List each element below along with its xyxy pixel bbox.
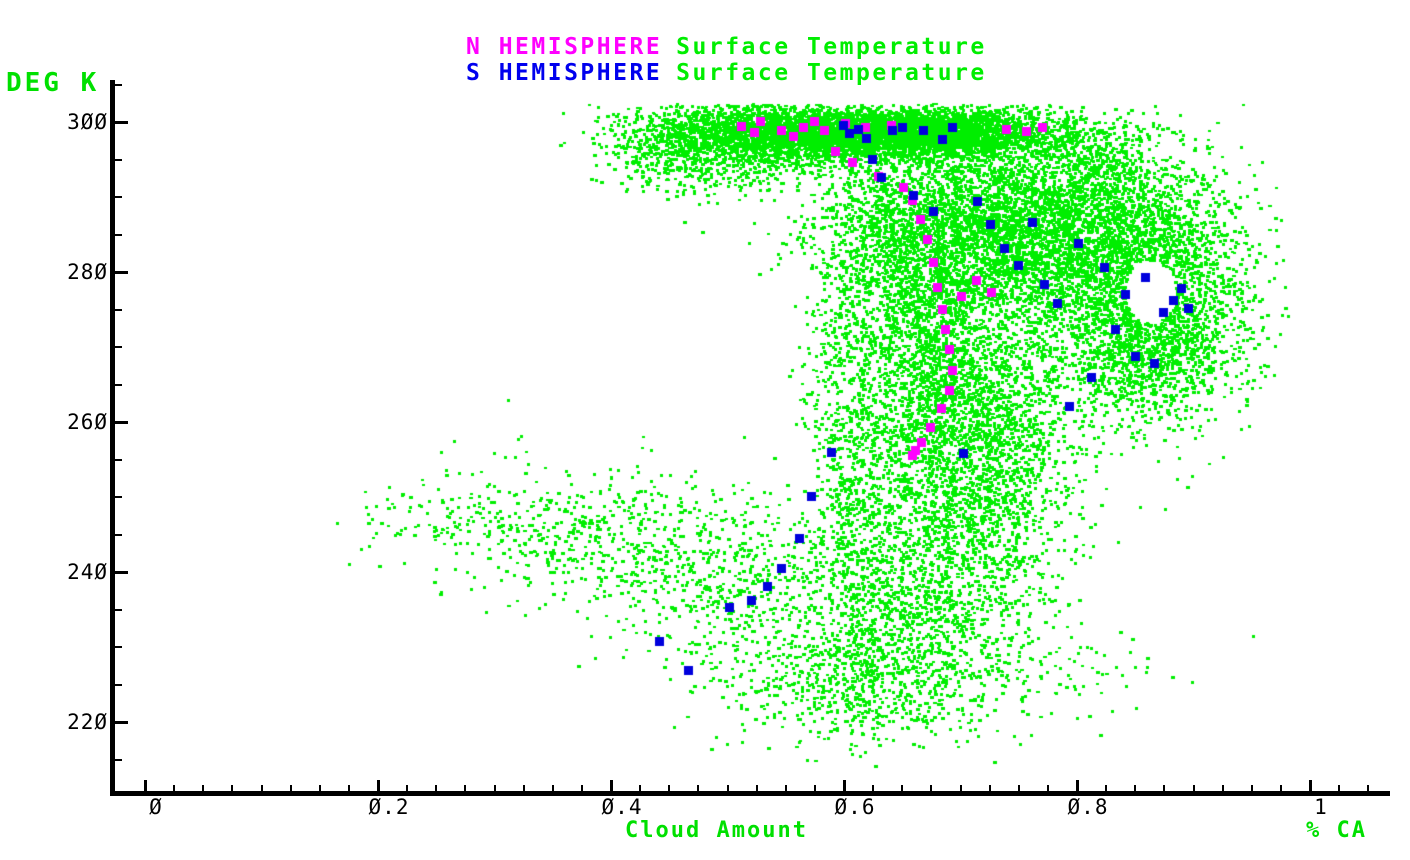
x-tick-minor	[930, 785, 932, 792]
y-tick-label: 28Ø	[30, 260, 108, 284]
x-tick-major	[1076, 780, 1079, 793]
x-tick-minor	[1105, 785, 1107, 792]
x-tick-minor	[785, 785, 787, 792]
x-tick-minor	[523, 785, 525, 792]
x-tick-label: Ø.6	[835, 795, 876, 819]
scatter-plot: 22Ø24Ø26Ø28Ø3ØØ ØØ.2Ø.4Ø.6Ø.81 DEG K Clo…	[0, 0, 1410, 860]
x-axis-units-label: % CA	[1306, 818, 1367, 843]
x-tick-minor	[202, 785, 204, 792]
x-tick-minor	[814, 785, 816, 792]
y-tick-minor	[115, 234, 122, 236]
x-tick-minor	[1338, 785, 1340, 792]
legend-series-label-s: S HEMISPHERE	[466, 60, 662, 86]
x-tick-minor	[290, 785, 292, 792]
y-tick-minor	[115, 646, 122, 648]
x-tick-minor	[901, 785, 903, 792]
x-tick-label: 1	[1314, 795, 1328, 819]
scatter-plot-canvas	[0, 0, 1410, 860]
x-tick-major	[377, 780, 380, 793]
y-tick-minor	[115, 534, 122, 536]
x-tick-label: Ø.4	[602, 795, 643, 819]
x-tick-minor	[1193, 785, 1195, 792]
x-tick-minor	[639, 785, 641, 792]
x-tick-minor	[464, 785, 466, 792]
y-tick-label: 3ØØ	[30, 110, 108, 134]
x-axis-line	[110, 791, 1390, 796]
x-tick-major	[1309, 780, 1312, 793]
y-tick-minor	[115, 609, 122, 611]
y-tick-minor	[115, 759, 122, 761]
y-axis-line	[110, 80, 115, 796]
x-tick-minor	[1163, 785, 1165, 792]
x-tick-minor	[1134, 785, 1136, 792]
x-tick-minor	[581, 785, 583, 792]
y-tick-minor	[115, 84, 122, 86]
y-tick-minor	[115, 159, 122, 161]
x-tick-minor	[231, 785, 233, 792]
y-tick-major	[115, 721, 128, 724]
y-tick-minor	[115, 196, 122, 198]
x-tick-minor	[1367, 785, 1369, 792]
y-tick-minor	[115, 496, 122, 498]
y-tick-minor	[115, 459, 122, 461]
x-tick-minor	[1018, 785, 1020, 792]
y-axis-title: DEG K	[6, 68, 99, 98]
y-tick-major	[115, 271, 128, 274]
x-tick-minor	[668, 785, 670, 792]
y-tick-minor	[115, 684, 122, 686]
x-tick-minor	[872, 785, 874, 792]
x-tick-label: Ø.2	[369, 795, 410, 819]
x-tick-minor	[435, 785, 437, 792]
y-tick-label: 22Ø	[30, 710, 108, 734]
x-tick-minor	[494, 785, 496, 792]
y-tick-major	[115, 421, 128, 424]
x-tick-minor	[1222, 785, 1224, 792]
legend-row-n-hemisphere: N HEMISPHERESurface Temperature	[466, 34, 987, 60]
x-tick-minor	[319, 785, 321, 792]
x-tick-minor	[1280, 785, 1282, 792]
x-tick-minor	[960, 785, 962, 792]
legend-row-s-hemisphere: S HEMISPHERESurface Temperature	[466, 60, 987, 86]
x-tick-minor	[989, 785, 991, 792]
x-tick-label: Ø	[149, 795, 163, 819]
x-tick-minor	[173, 785, 175, 792]
legend-metric-label-s: Surface Temperature	[676, 60, 987, 86]
x-tick-label: Ø.8	[1068, 795, 1109, 819]
y-tick-minor	[115, 384, 122, 386]
x-tick-minor	[727, 785, 729, 792]
y-tick-label: 24Ø	[30, 560, 108, 584]
x-tick-minor	[756, 785, 758, 792]
x-tick-major	[843, 780, 846, 793]
x-tick-minor	[348, 785, 350, 792]
x-tick-minor	[406, 785, 408, 792]
y-tick-major	[115, 121, 128, 124]
x-axis-title: Cloud Amount	[625, 818, 808, 843]
y-tick-major	[115, 571, 128, 574]
y-tick-minor	[115, 309, 122, 311]
x-tick-minor	[697, 785, 699, 792]
x-tick-major	[610, 780, 613, 793]
y-tick-label: 26Ø	[30, 410, 108, 434]
x-tick-minor	[1047, 785, 1049, 792]
x-tick-minor	[1251, 785, 1253, 792]
x-tick-minor	[552, 785, 554, 792]
legend-metric-label-n: Surface Temperature	[676, 34, 987, 60]
x-tick-minor	[261, 785, 263, 792]
x-tick-major	[144, 780, 147, 793]
legend-series-label-n: N HEMISPHERE	[466, 34, 662, 60]
y-tick-minor	[115, 346, 122, 348]
chart-legend: N HEMISPHERESurface Temperature S HEMISP…	[466, 34, 987, 86]
